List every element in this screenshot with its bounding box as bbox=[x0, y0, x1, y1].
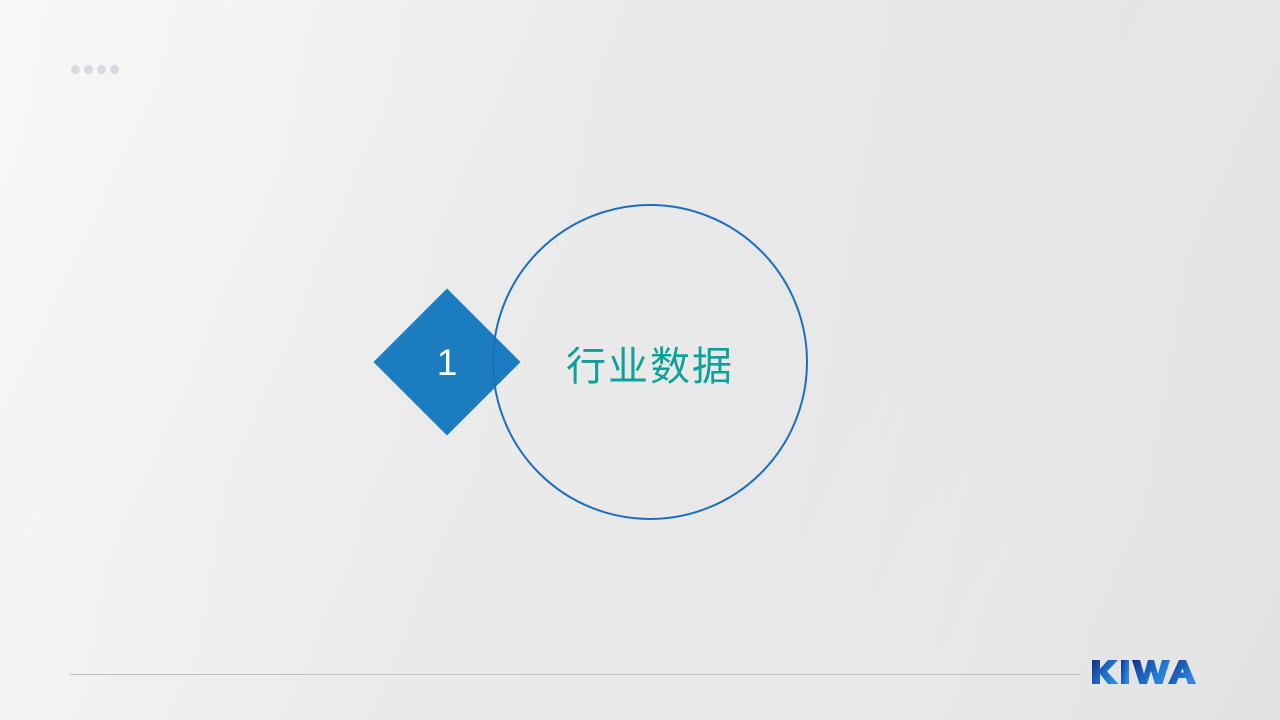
section-number-label: 1 bbox=[395, 310, 499, 414]
section-title-wrap: 行业数据 bbox=[492, 204, 808, 520]
slide-canvas: 1 行业数据 bbox=[0, 0, 1280, 720]
section-title: 行业数据 bbox=[566, 334, 734, 392]
section-graphic: 1 行业数据 bbox=[0, 0, 1280, 720]
kiway-logo bbox=[1092, 659, 1196, 685]
